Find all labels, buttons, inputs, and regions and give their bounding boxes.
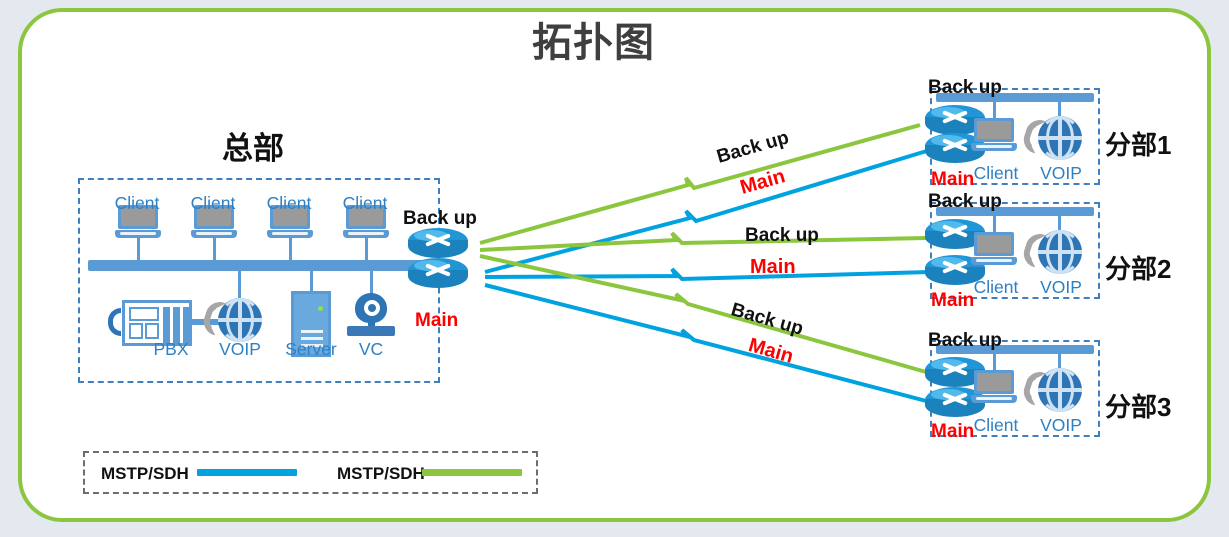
- branch3-voip-label: VOIP: [1023, 416, 1099, 434]
- hq-router-main-label: Main: [415, 311, 458, 331]
- page-title: 拓扑图: [532, 22, 655, 64]
- branch2-client-label: Client: [965, 278, 1027, 296]
- hq-vc-drop: [370, 268, 373, 295]
- router-main-icon: [408, 258, 468, 298]
- hq-client-label-3: Client: [258, 194, 320, 212]
- branch3-client-drop: [993, 353, 996, 370]
- hq-server-label: Server: [273, 340, 349, 358]
- branch2-voip-label: VOIP: [1023, 278, 1099, 296]
- hq-voip-drop: [238, 268, 241, 300]
- branch2-backup-link-label: Back up: [745, 226, 819, 246]
- branch1-voip-label: VOIP: [1023, 164, 1099, 182]
- headquarters-title: 总部: [222, 133, 284, 166]
- hq-pbx-label: PBX: [140, 340, 202, 358]
- hq-client-drop-2: [213, 238, 216, 262]
- branch1-client-drop: [993, 101, 996, 118]
- branch1-router-backup-label: Back up: [928, 78, 1002, 98]
- hq-voip-label: VOIP: [202, 340, 278, 358]
- hq-client-drop-1: [137, 238, 140, 262]
- hq-client-label-4: Client: [334, 194, 396, 212]
- hq-client-label-2: Client: [182, 194, 244, 212]
- video-camera-icon: [347, 293, 395, 337]
- branch2-client-drop: [993, 215, 996, 232]
- laptop-icon: [971, 118, 1017, 152]
- laptop-icon: [971, 370, 1017, 404]
- laptop-icon: [971, 232, 1017, 266]
- branch2-title: 分部2: [1105, 256, 1171, 283]
- hq-vc-label: VC: [340, 340, 402, 358]
- branch3-client-label: Client: [965, 416, 1027, 434]
- branch3-router-backup-label: Back up: [928, 331, 1002, 351]
- hq-router-backup-label: Back up: [403, 209, 477, 229]
- legend-swatch-blue: [197, 469, 297, 476]
- hq-client-drop-4: [365, 238, 368, 262]
- branch1-title: 分部1: [1105, 132, 1171, 159]
- branch1-client-label: Client: [965, 164, 1027, 182]
- legend-label-mstp-green: MSTP/SDH: [337, 465, 425, 483]
- branch2-router-backup-label: Back up: [928, 192, 1002, 212]
- hq-client-label-1: Client: [106, 194, 168, 212]
- legend-swatch-green: [422, 469, 522, 476]
- branch2-main-link-label: Main: [750, 257, 796, 278]
- hq-server-drop: [310, 268, 313, 293]
- branch3-title: 分部3: [1105, 394, 1171, 421]
- legend-label-mstp-blue: MSTP/SDH: [101, 465, 189, 483]
- hq-client-drop-3: [289, 238, 292, 262]
